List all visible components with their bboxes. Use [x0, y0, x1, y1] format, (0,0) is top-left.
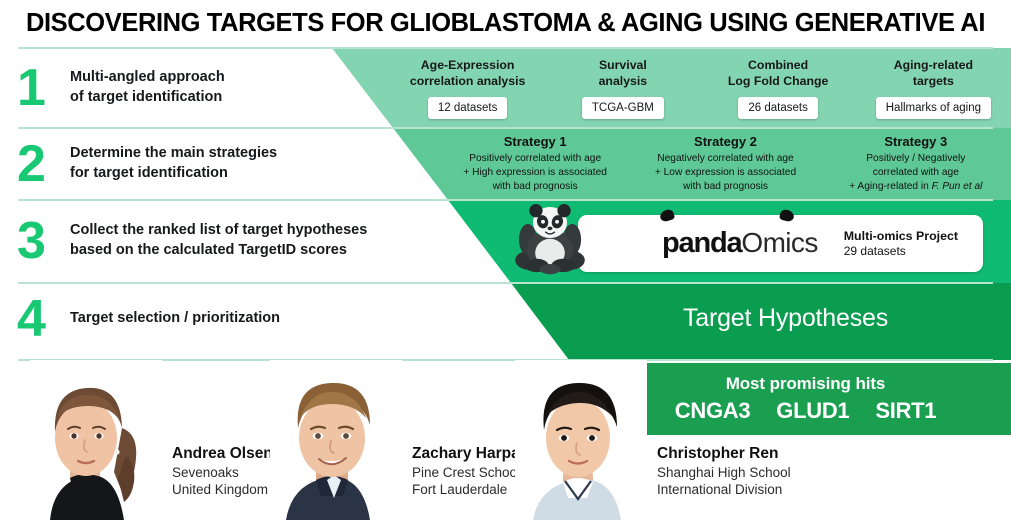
- step1-chip[interactable]: 26 datasets: [738, 97, 817, 119]
- author-card: Christopher Ren Shanghai High School Int…: [515, 360, 791, 520]
- separator-3-4: [18, 282, 993, 284]
- step-row-3: 3 Collect the ranked list of target hypo…: [0, 206, 367, 276]
- pandaomics-block: panda Omics Multi-omics Project 29 datas…: [508, 204, 1011, 280]
- strategy-line: Positively / Negatively: [866, 153, 965, 164]
- author-name: Christopher Ren: [657, 444, 791, 464]
- author-info: Zachary Harpaz Pine Crest School Fort La…: [412, 444, 527, 498]
- author-location: International Division: [657, 481, 791, 498]
- step1-chip[interactable]: Hallmarks of aging: [876, 97, 991, 119]
- authors-row: Andrea Olsen Sevenoaks United Kingdom: [0, 360, 1011, 520]
- portrait-andrea-olsen: [30, 360, 162, 520]
- author-name: Andrea Olsen: [172, 444, 273, 464]
- step1-chip[interactable]: TCGA-GBM: [582, 97, 664, 119]
- project-subtitle: 29 datasets: [844, 244, 958, 260]
- wordmark-omics: Omics: [741, 227, 817, 259]
- strategy-line: + Aging-related in: [849, 181, 931, 192]
- separator-2-3: [18, 199, 993, 201]
- author-info: Andrea Olsen Sevenoaks United Kingdom: [172, 444, 273, 498]
- portrait-christopher-ren: [515, 360, 647, 520]
- strategy-heading: Strategy 3: [884, 134, 947, 149]
- author-info: Christopher Ren Shanghai High School Int…: [657, 444, 791, 498]
- step-label-2: Determine the main strategiesfor target …: [70, 144, 277, 183]
- step-number-2: 2: [0, 138, 62, 190]
- strategy-line: correlated with age: [873, 167, 959, 178]
- page-title: DISCOVERING TARGETS FOR GLIOBLASTOMA & A…: [0, 4, 1011, 42]
- strategy-line: with bad prognosis: [683, 181, 768, 192]
- target-hypotheses-banner: Target Hypotheses: [560, 296, 1011, 340]
- strategy-heading: Strategy 2: [694, 134, 757, 149]
- step1-heading: Survivalanalysis: [599, 58, 648, 90]
- pandaomics-logo-card[interactable]: panda Omics Multi-omics Project 29 datas…: [578, 215, 983, 272]
- strategy-line: with bad prognosis: [493, 181, 578, 192]
- step1-heading: Age-Expressioncorrelation analysis: [410, 58, 526, 90]
- poster-root: DISCOVERING TARGETS FOR GLIOBLASTOMA & A…: [0, 0, 1011, 520]
- step1-heading: Aging-relatedtargets: [894, 58, 973, 90]
- step1-heading: CombinedLog Fold Change: [728, 58, 828, 90]
- panda-ear-right-icon: [779, 208, 795, 222]
- step-number-3: 3: [0, 215, 62, 267]
- strategy-heading: Strategy 1: [504, 134, 567, 149]
- pandaomics-wordmark: panda Omics: [662, 227, 818, 260]
- separator-top: [18, 47, 993, 49]
- separator-1-2: [18, 127, 993, 129]
- author-affiliation: Pine Crest School: [412, 464, 527, 481]
- author-location: Fort Lauderdale: [412, 481, 527, 498]
- portrait-zachary-harpaz: [270, 360, 402, 520]
- strategy-line: Positively correlated with age: [469, 153, 601, 164]
- author-affiliation: Sevenoaks: [172, 464, 273, 481]
- strategy-line: + Low expression is associated: [655, 167, 796, 178]
- panda-mascot-icon: [512, 204, 588, 278]
- step-row-1: 1 Multi-angled approachof target identif…: [0, 54, 225, 122]
- strategy-line: + High expression is associated: [463, 167, 607, 178]
- author-card: Zachary Harpaz Pine Crest School Fort La…: [270, 360, 527, 520]
- strategy-body: Positively / Negatively correlated with …: [849, 152, 982, 194]
- strategy-body: Positively correlated with age + High ex…: [463, 152, 607, 194]
- strategy-3: Strategy 3 Positively / Negatively corre…: [821, 134, 1011, 196]
- step1-column-age-expression: Age-Expressioncorrelation analysis 12 da…: [390, 52, 545, 126]
- step-label-4: Target selection / prioritization: [70, 309, 280, 329]
- step1-columns: Age-Expressioncorrelation analysis 12 da…: [390, 52, 1011, 126]
- wordmark-panda: panda: [662, 227, 741, 260]
- step2-strategies: Strategy 1 Positively correlated with ag…: [440, 134, 1011, 196]
- project-title: Multi-omics Project: [844, 228, 958, 244]
- step-number-4: 4: [0, 293, 62, 345]
- author-location: United Kingdom: [172, 481, 273, 498]
- step1-column-logfoldchange: CombinedLog Fold Change 26 datasets: [701, 52, 856, 126]
- strategy-line: Negatively correlated with age: [657, 153, 793, 164]
- step1-chip[interactable]: 12 datasets: [428, 97, 507, 119]
- step-label-1: Multi-angled approachof target identific…: [70, 68, 225, 107]
- step-row-2: 2 Determine the main strategiesfor targe…: [0, 133, 277, 195]
- strategy-body: Negatively correlated with age + Low exp…: [655, 152, 796, 194]
- step1-column-survival: Survivalanalysis TCGA-GBM: [545, 52, 700, 126]
- step1-column-aging-related: Aging-relatedtargets Hallmarks of aging: [856, 52, 1011, 126]
- author-name: Zachary Harpaz: [412, 444, 527, 464]
- author-card: Andrea Olsen Sevenoaks United Kingdom: [30, 360, 273, 520]
- author-affiliation: Shanghai High School: [657, 464, 791, 481]
- step-label-3: Collect the ranked list of target hypoth…: [70, 221, 367, 260]
- panda-ear-left-icon: [659, 208, 676, 223]
- strategy-citation: F. Pun et al: [932, 181, 983, 192]
- project-info: Multi-omics Project 29 datasets: [844, 228, 958, 260]
- step-number-1: 1: [0, 62, 62, 114]
- strategy-1: Strategy 1 Positively correlated with ag…: [440, 134, 630, 196]
- step-row-4: 4 Target selection / prioritization: [0, 296, 280, 342]
- strategy-2: Strategy 2 Negatively correlated with ag…: [630, 134, 820, 196]
